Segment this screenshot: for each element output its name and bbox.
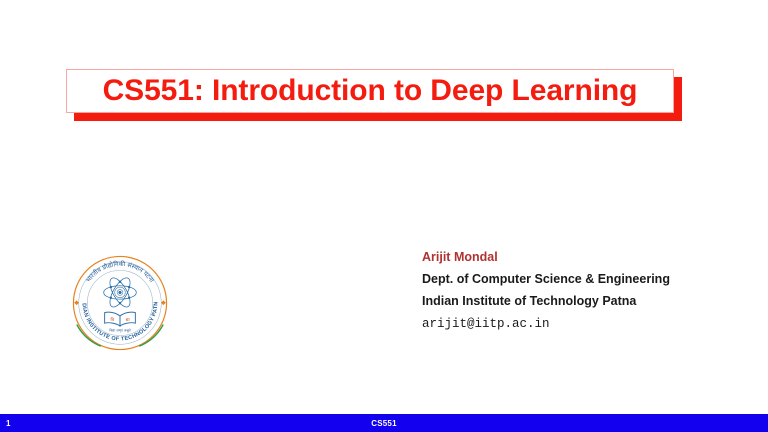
slide-title-block: CS551: Introduction to Deep Learning xyxy=(66,69,674,113)
svg-text:वि: वि xyxy=(111,317,115,323)
author-email: arijit@iitp.ac.in xyxy=(422,312,722,336)
slide-footer: CS551 1 xyxy=(0,414,768,432)
author-name: Arijit Mondal xyxy=(422,246,722,268)
author-block: Arijit Mondal Dept. of Computer Science … xyxy=(422,246,722,336)
author-institute: Indian Institute of Technology Patna xyxy=(422,290,722,312)
page-title: CS551: Introduction to Deep Learning xyxy=(66,69,674,113)
footer-course-code: CS551 xyxy=(0,414,768,432)
slide-canvas: CS551: Introduction to Deep Learning भार… xyxy=(0,0,768,432)
footer-page-number: 1 xyxy=(6,414,10,432)
svg-text:विद्या अमृतं अश्नुते: विद्या अमृतं अश्नुते xyxy=(109,327,130,332)
iit-patna-logo: भारतीय प्रौद्योगिकी संस्थान पटना INDIAN … xyxy=(72,255,168,351)
author-department: Dept. of Computer Science & Engineering xyxy=(422,268,722,290)
